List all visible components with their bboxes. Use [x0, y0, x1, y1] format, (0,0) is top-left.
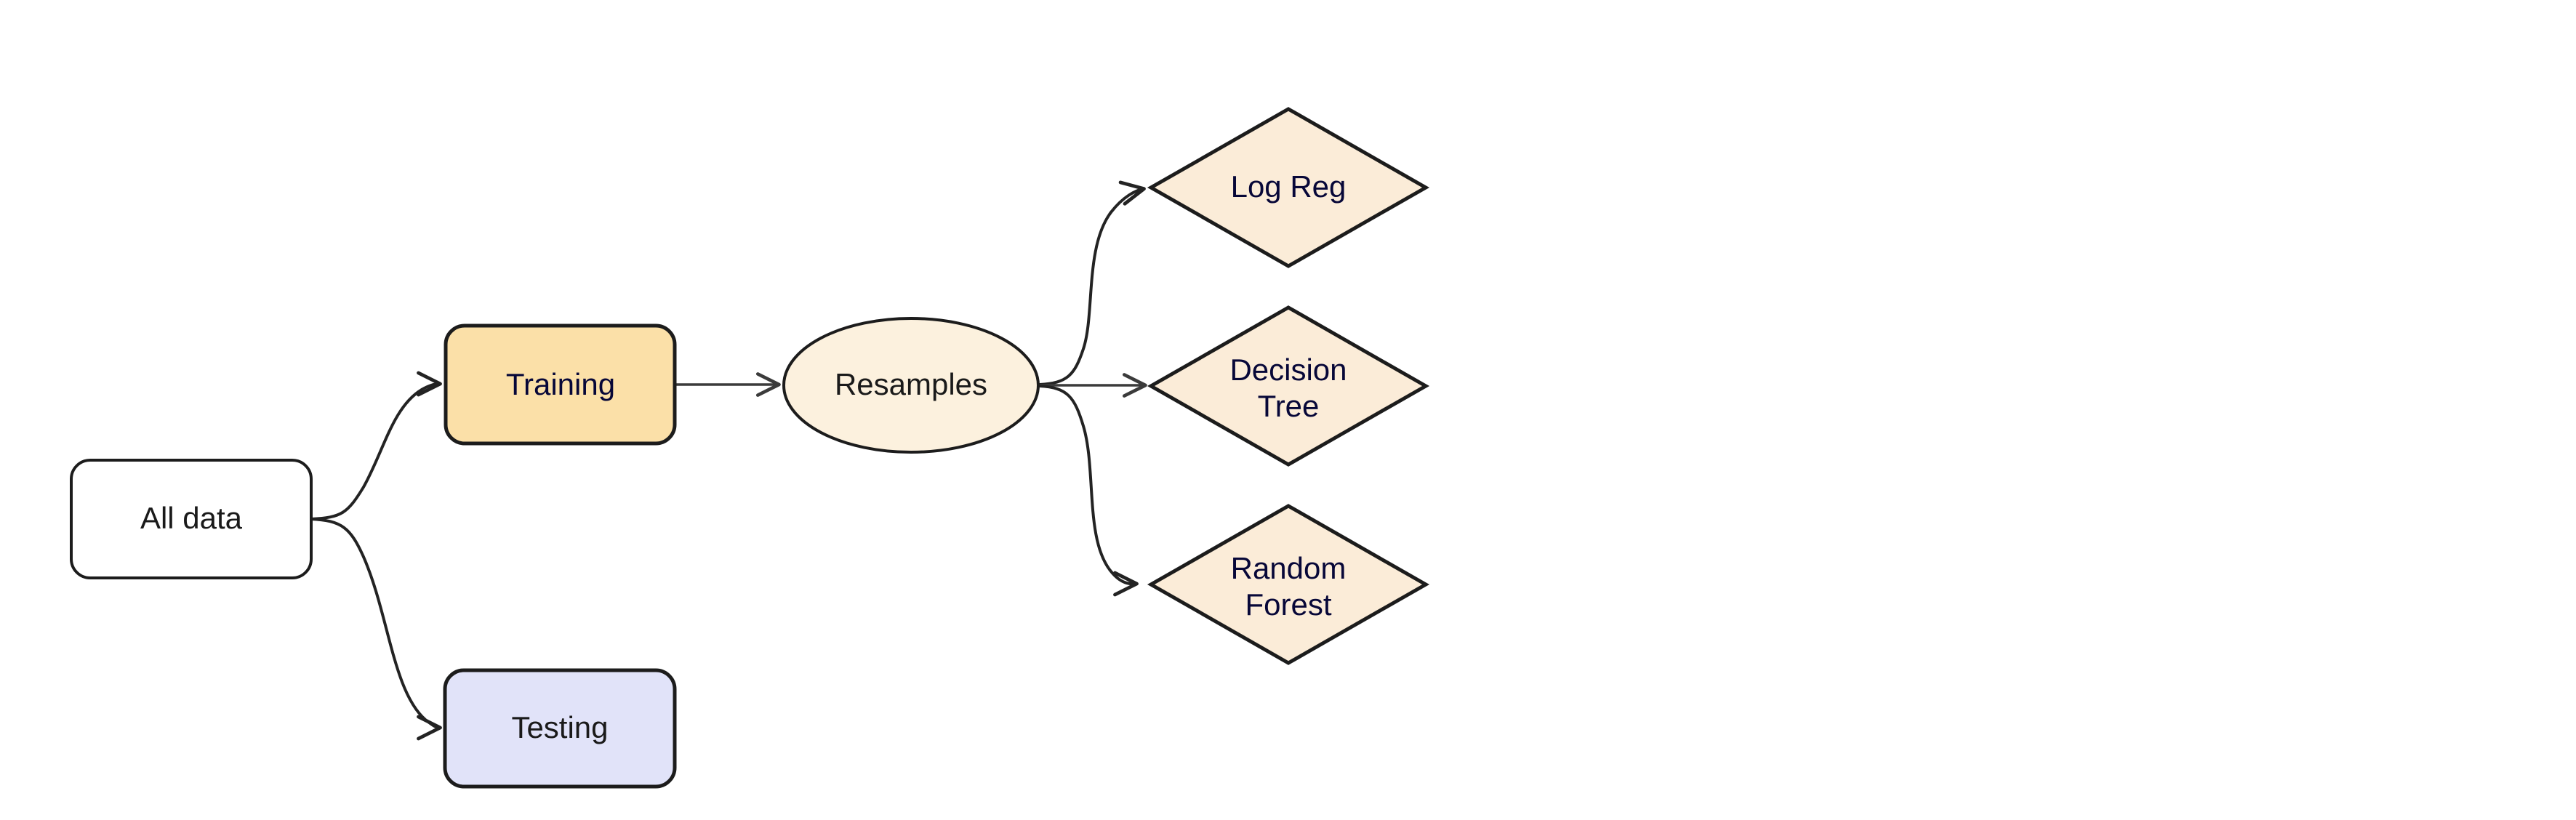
node-testing[interactable]: Testing: [445, 670, 675, 787]
flowchart-svg: All data Training Testing Resamples Log …: [0, 0, 2576, 820]
decision-tree-label-line1: Decision: [1229, 353, 1347, 387]
edge-resamples-random-forest[interactable]: [1040, 386, 1136, 584]
edge-all-data-training[interactable]: [311, 384, 439, 519]
edge-resamples-log-reg[interactable]: [1040, 189, 1143, 385]
random-forest-label-line1: Random: [1231, 551, 1347, 585]
node-random-forest[interactable]: Random Forest: [1151, 506, 1426, 663]
decision-tree-label-line2: Tree: [1258, 389, 1320, 423]
log-reg-label: Log Reg: [1231, 169, 1347, 204]
edge-layer: [311, 189, 1144, 728]
random-forest-label-line2: Forest: [1245, 587, 1331, 622]
all-data-label: All data: [140, 501, 243, 535]
node-decision-tree[interactable]: Decision Tree: [1151, 307, 1426, 465]
node-resamples[interactable]: Resamples: [784, 318, 1038, 452]
testing-label: Testing: [511, 710, 608, 744]
node-layer: All data Training Testing Resamples Log …: [71, 109, 1426, 787]
node-training[interactable]: Training: [446, 326, 675, 443]
training-label: Training: [506, 367, 615, 401]
node-all-data[interactable]: All data: [71, 460, 311, 578]
edge-all-data-testing[interactable]: [311, 519, 439, 728]
resamples-label: Resamples: [835, 367, 987, 401]
diagram-canvas: All data Training Testing Resamples Log …: [0, 0, 2576, 820]
node-log-reg[interactable]: Log Reg: [1151, 109, 1426, 266]
